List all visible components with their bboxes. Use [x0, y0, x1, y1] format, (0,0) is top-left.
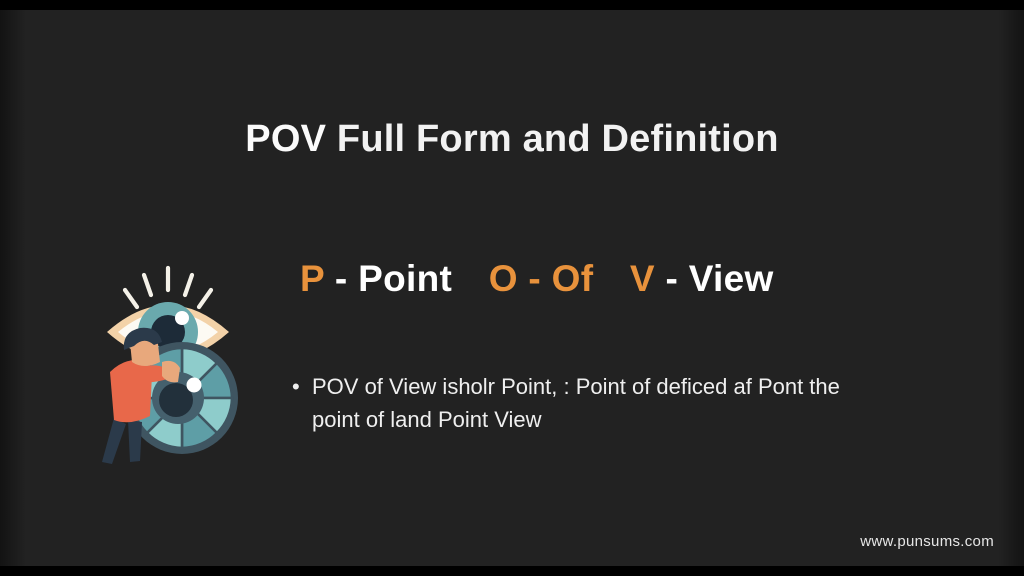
expansion-word-o: Of: [552, 258, 594, 299]
eye-highlight: [175, 311, 189, 325]
slide-stage: POV Full Form and Definition P - Point O…: [0, 10, 1024, 566]
acronym-expansion: P - Point O - Of V - View: [300, 258, 774, 300]
footer-website: www.punsums.com: [860, 533, 994, 550]
title-acronym: POV: [245, 118, 326, 160]
vignette-right: [998, 10, 1024, 566]
slide-canvas: POV Full Form and Definition P - Point O…: [0, 0, 1024, 576]
expansion-letter-v: V: [630, 258, 655, 299]
letterbox-bottom: [0, 566, 1024, 576]
pov-illustration: [70, 250, 270, 470]
expansion-group-p: P - Point: [300, 258, 452, 299]
definition-list: • POV of View isholr Point, : Point of d…: [292, 370, 892, 436]
expansion-word-v: View: [689, 258, 774, 299]
illustration-svg: [70, 250, 270, 470]
expansion-letter-o: O: [489, 258, 518, 299]
letterbox-top: [0, 0, 1024, 10]
expansion-dash-v: -: [665, 258, 678, 299]
page-title: POV Full Form and Definition: [0, 118, 1024, 161]
expansion-group-v: V - View: [630, 258, 774, 299]
title-rest: Full Form and Definition: [326, 118, 779, 160]
expansion-word-p: Point: [358, 258, 452, 299]
list-item-text: POV of View isholr Point, : Point of def…: [312, 370, 892, 436]
expansion-dash-o: -: [528, 258, 541, 299]
vignette-left: [0, 10, 26, 566]
person-leg-front: [128, 420, 142, 462]
list-item: • POV of View isholr Point, : Point of d…: [292, 370, 892, 436]
expansion-letter-p: P: [300, 258, 324, 299]
person-leg-back: [102, 418, 126, 464]
expansion-group-o: O - Of: [489, 258, 594, 299]
bullet-point-icon: •: [292, 370, 312, 403]
eyelashes-icon: [125, 268, 211, 307]
aperture-highlight: [187, 378, 202, 393]
expansion-dash-p: -: [335, 258, 348, 299]
